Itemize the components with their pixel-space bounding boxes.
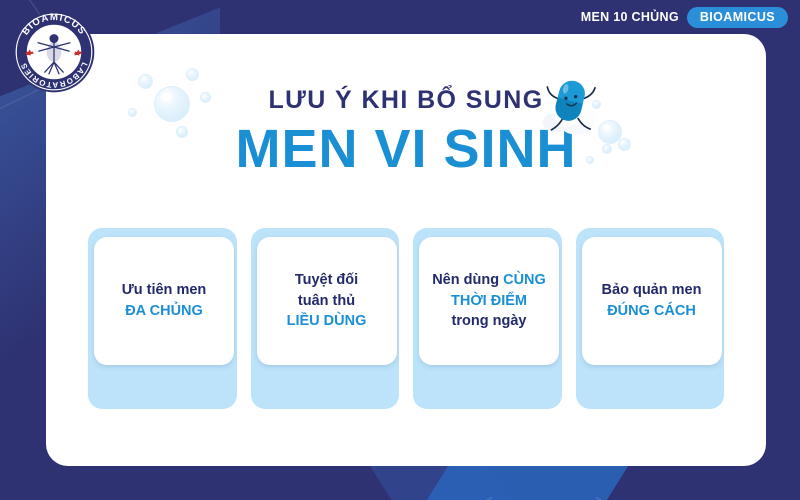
tip-card-line-accent: ĐA CHỦNG (125, 301, 203, 322)
tip-card-inner: Bảo quản men ĐÚNG CÁCH (582, 237, 722, 365)
tip-card-line: Ưu tiên men (122, 280, 207, 301)
tip-card-line-accent: THỜI ĐIỂM (451, 291, 527, 312)
tip-card-line-accent: ĐÚNG CÁCH (607, 301, 696, 322)
probiotic-mascot (528, 74, 612, 142)
capsule-mascot-icon (528, 74, 612, 142)
brand-badge: BIOAMICUS (687, 7, 788, 28)
tip-card-bao-quan[interactable]: Bảo quản men ĐÚNG CÁCH (576, 228, 725, 409)
bubble-decor (138, 74, 153, 89)
tip-card-text-accent: CÙNG (503, 272, 546, 288)
tip-card-inner: Nên dùng CÙNG THỜI ĐIỂM trong ngày (419, 237, 559, 365)
title-block: LƯU Ý KHI BỔ SUNG MEN VI SINH (46, 88, 766, 178)
tip-card-line: Bảo quản men (602, 280, 702, 301)
slide-subtitle: LƯU Ý KHI BỔ SUNG (46, 88, 766, 113)
tip-card-line: Nên dùng CÙNG (432, 270, 546, 291)
tip-card-inner: Tuyệt đối tuân thủ LIỀU DÙNG (257, 237, 397, 365)
tip-card-text: Nên dùng (432, 272, 503, 288)
bubble-decor (186, 68, 199, 81)
tip-card-da-chung[interactable]: Ưu tiên men ĐA CHỦNG (88, 228, 237, 409)
tips-card-list: Ưu tiên men ĐA CHỦNG Tuyệt đối tuân thủ … (88, 228, 724, 409)
tip-card-inner: Ưu tiên men ĐA CHỦNG (94, 237, 234, 365)
topbar-label: MEN 10 CHỦNG (581, 10, 679, 24)
slide-title: MEN VI SINH (46, 121, 766, 178)
tip-card-line: trong ngày (452, 311, 527, 332)
tip-card-line-accent: LIỀU DÙNG (287, 311, 367, 332)
tip-card-line: tuân thủ (298, 291, 355, 312)
tip-card-thoi-diem[interactable]: Nên dùng CÙNG THỜI ĐIỂM trong ngày (413, 228, 562, 409)
logo-icon: BIOAMICUS LABORATORIES (12, 10, 96, 94)
content-panel: LƯU Ý KHI BỔ SUNG MEN VI SINH (46, 34, 766, 466)
top-bar: MEN 10 CHỦNG BIOAMICUS (0, 0, 800, 34)
tip-card-line: Tuyệt đối (295, 270, 358, 291)
bioamicus-logo: BIOAMICUS LABORATORIES (12, 10, 96, 94)
tip-card-lieu-dung[interactable]: Tuyệt đối tuân thủ LIỀU DÙNG (251, 228, 400, 409)
slide-root: BIOAMICUS MEN 10 CHỦNG BIOAMICUS BIOAMIC… (0, 0, 800, 500)
